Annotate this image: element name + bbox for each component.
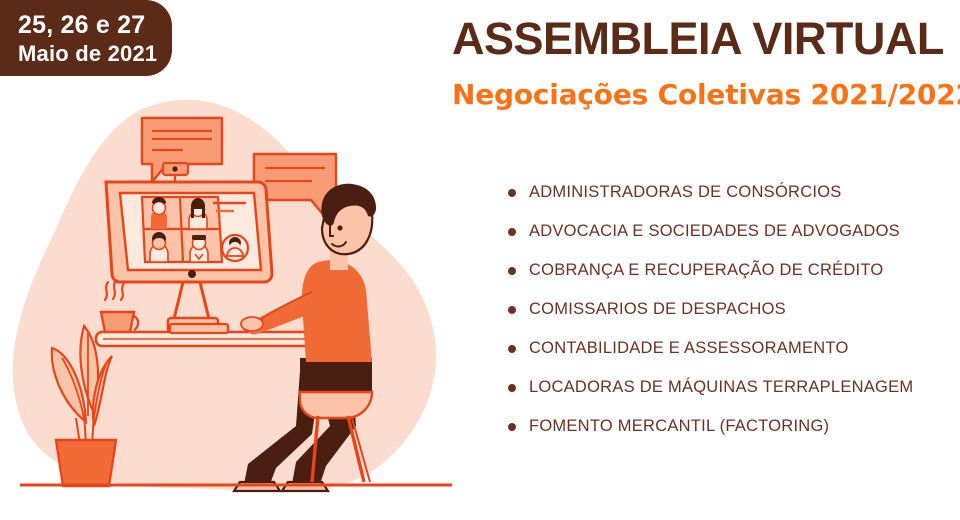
bullet-icon [508,267,516,275]
date-badge-days: 25, 26 e 27 [18,11,172,40]
list-item: LOCADORAS DE MÁQUINAS TERRAPLENAGEM [508,368,913,407]
bullet-icon [508,228,516,236]
list-item-label: CONTABILIDADE E ASSESSORAMENTO [529,339,849,358]
date-badge: 25, 26 e 27 Maio de 2021 [0,0,172,76]
segment-list: ADMINISTRADORAS DE CONSÓRCIOS ADVOCACIA … [508,173,913,446]
video-grid [142,197,222,262]
list-item: ADMINISTRADORAS DE CONSÓRCIOS [508,173,913,212]
background-blob [13,100,436,492]
video-tile [151,197,167,229]
list-item-label: LOCADORAS DE MÁQUINAS TERRAPLENAGEM [529,378,913,397]
bullet-icon [508,423,516,431]
list-item-label: ADVOCACIA E SOCIEDADES DE ADVOGADOS [529,222,900,241]
keyboard [170,324,228,333]
list-item: ADVOCACIA E SOCIEDADES DE ADVOGADOS [508,212,913,251]
poster-canvas: 25, 26 e 27 Maio de 2021 ASSEMBLEIA VIRT… [0,0,960,520]
list-item: FOMENTO MERCANTIL (FACTORING) [508,407,913,446]
list-item-label: COMISSARIOS DE DESPACHOS [529,300,786,319]
bullet-icon [508,384,516,392]
video-tile [190,235,208,262]
page-title: ASSEMBLEIA VIRTUAL [452,14,944,64]
bullet-icon [508,306,516,314]
bullet-icon [508,345,516,353]
page-subtitle: Negociações Coletivas 2021/2022 [452,78,960,112]
bullet-icon [508,189,516,197]
list-item-label: ADMINISTRADORAS DE CONSÓRCIOS [529,183,842,202]
list-item: COMISSARIOS DE DESPACHOS [508,290,913,329]
list-item: COBRANÇA E RECUPERAÇÃO DE CRÉDITO [508,251,913,290]
list-item: CONTABILIDADE E ASSESSORAMENTO [508,329,913,368]
video-tile [150,232,168,262]
video-conference-illustration [0,96,470,520]
desk [96,332,314,346]
date-badge-month: Maio de 2021 [18,40,172,67]
list-item-label: FOMENTO MERCANTIL (FACTORING) [529,417,829,436]
video-tile [189,198,207,229]
participant-avatar [222,235,248,261]
list-item-label: COBRANÇA E RECUPERAÇÃO DE CRÉDITO [529,261,884,280]
